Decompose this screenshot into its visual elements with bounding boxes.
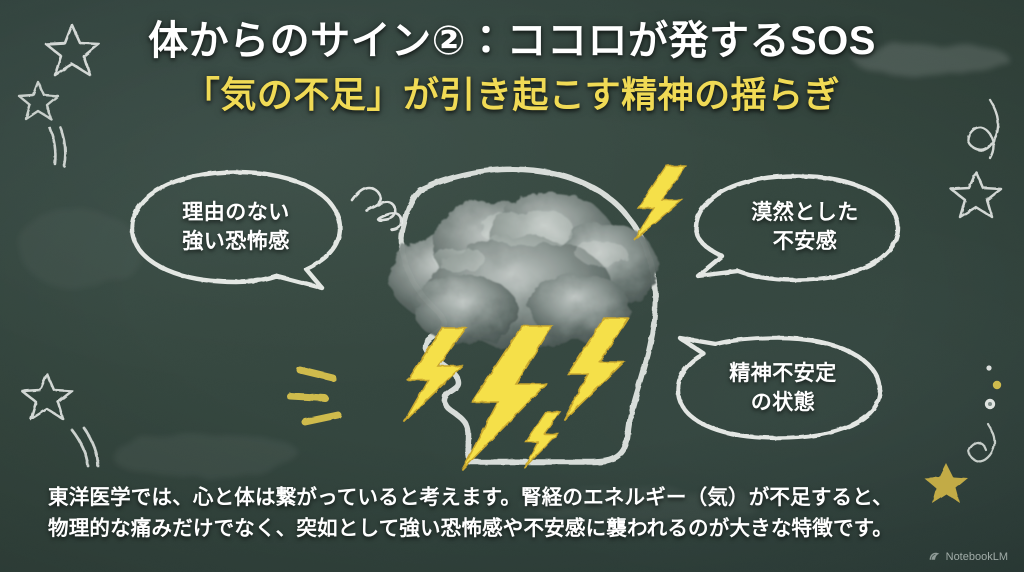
star-top-right <box>951 172 1001 217</box>
bolt-outside <box>634 166 686 240</box>
page-subtitle: 「気の不足」が引き起こす精神の揺らぎ <box>0 72 1024 117</box>
caption-line-1: 東洋医学では、心と体は繋がっていると考えます。腎経のエネルギー（気）が不足すると… <box>48 482 978 513</box>
arc-marks-bottom-left <box>72 428 98 466</box>
caption-block: 東洋医学では、心と体は繋がっていると考えます。腎経のエネルギー（気）が不足すると… <box>48 482 978 544</box>
bubble-instability-line1: 精神不安定 <box>729 360 837 389</box>
caption-line-2: 物理的な痛みだけでなく、突如として強い恐怖感や不安感に襲われるのが大きな特徴です… <box>48 513 978 544</box>
speech-bubble-instability-text: 精神不安定 の状態 <box>672 330 884 442</box>
bubble-anxiety-line1: 漠然とした <box>751 199 859 228</box>
bubble-fear-line2: 強い恐怖感 <box>182 228 290 257</box>
bubble-anxiety-line2: 不安感 <box>773 228 838 257</box>
speech-bubble-fear: 理由のない 強い恐怖感 <box>126 168 346 288</box>
chalkboard-background: 理由のない 強い恐怖感 漠然とした 不安感 精神不安定 の状態 体からのサイン②… <box>0 0 1024 572</box>
star-bottom-left <box>22 374 72 419</box>
arc-marks-top-left <box>50 127 65 166</box>
notebooklm-label: NotebookLM <box>946 551 1008 563</box>
speech-bubble-anxiety: 漠然とした 不安感 <box>692 172 904 284</box>
speech-bubble-fear-text: 理由のない 強い恐怖感 <box>126 168 346 288</box>
bubble-instability-line2: の状態 <box>751 389 816 418</box>
page-title: 体からのサイン②：ココロが発するSOS <box>0 16 1024 66</box>
speech-bubble-instability: 精神不安定 の状態 <box>672 330 884 442</box>
notebooklm-icon <box>928 550 941 563</box>
notebooklm-watermark: NotebookLM <box>928 550 1008 563</box>
speech-bubble-anxiety-text: 漠然とした 不安感 <box>692 172 904 284</box>
bubble-fear-line1: 理由のない <box>182 199 290 228</box>
curl-bottom-right <box>969 424 995 461</box>
heading-block: 体からのサイン②：ココロが発するSOS 「気の不足」が引き起こす精神の揺らぎ <box>0 16 1024 117</box>
dots-bottom-right <box>985 365 1001 409</box>
